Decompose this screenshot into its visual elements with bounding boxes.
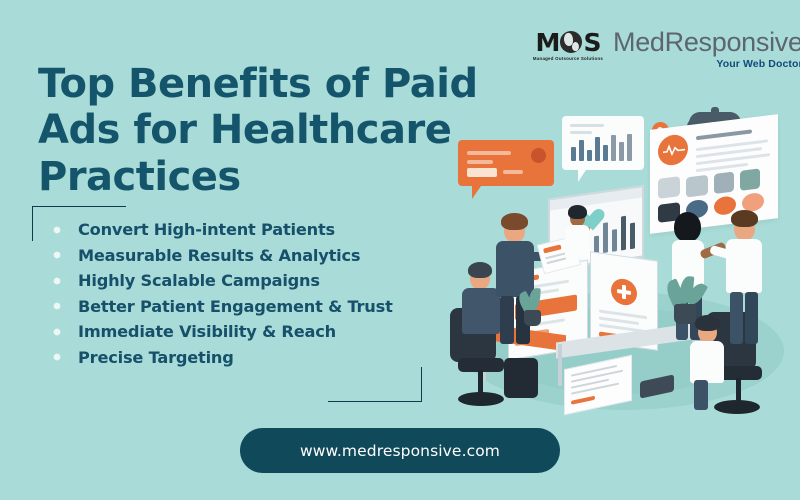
orange-chat-bubble	[458, 140, 554, 186]
brand-logo[interactable]: M S Managed Outsource Solutions MedRespo…	[532, 29, 800, 70]
bullet-dot-icon	[54, 303, 60, 309]
brand-tagline: Your Web Doctor	[613, 58, 800, 70]
bubble-avatar-icon	[531, 148, 546, 163]
office-illustration	[436, 96, 800, 416]
website-url-button[interactable]: www.medresponsive.com	[240, 428, 560, 473]
brand-wordmark: MedResponsive Your Web Doctor	[613, 29, 800, 70]
brand-name: MedResponsive	[613, 29, 800, 56]
bracket-corner-bottom-right	[328, 367, 422, 402]
medical-cross-icon	[611, 277, 637, 307]
mos-lettermark: M S	[536, 29, 601, 55]
list-item: Immediate Visibility & Reach	[54, 322, 422, 341]
benefit-label: Immediate Visibility & Reach	[78, 322, 336, 341]
list-item: Precise Targeting	[54, 348, 422, 367]
bullet-dot-icon	[54, 278, 60, 284]
mos-logo-mark: M S Managed Outsource Solutions	[532, 29, 604, 61]
title-line-2: Ads for Healthcare	[38, 107, 451, 153]
benefits-list-container: Convert High-intent Patients Measurable …	[32, 206, 422, 402]
mos-logo-subtitle: Managed Outsource Solutions	[533, 56, 603, 61]
chart-bubble	[562, 116, 644, 170]
benefit-label: Measurable Results & Analytics	[78, 246, 360, 265]
pulse-icon	[658, 133, 688, 167]
bracket-corner-top-left	[32, 206, 126, 241]
benefit-label: Precise Targeting	[78, 348, 234, 367]
list-item: Measurable Results & Analytics	[54, 246, 422, 265]
title-line-3: Practices	[38, 154, 241, 200]
dashboard-board	[650, 114, 778, 234]
bullet-dot-icon	[54, 252, 60, 258]
infographic-canvas: M S Managed Outsource Solutions MedRespo…	[0, 0, 800, 500]
list-item: Better Patient Engagement & Trust	[54, 297, 422, 316]
mos-letter-s: S	[583, 30, 600, 55]
list-item: Highly Scalable Campaigns	[54, 271, 422, 290]
bullet-dot-icon	[54, 329, 60, 335]
bullet-dot-icon	[54, 354, 60, 360]
globe-icon	[560, 31, 582, 53]
mos-letter-m: M	[536, 30, 560, 55]
benefit-label: Highly Scalable Campaigns	[78, 271, 320, 290]
benefit-label: Better Patient Engagement & Trust	[78, 297, 393, 316]
website-url-label: www.medresponsive.com	[300, 442, 500, 460]
waste-bin	[504, 358, 538, 398]
title-line-1: Top Benefits of Paid	[38, 61, 478, 107]
